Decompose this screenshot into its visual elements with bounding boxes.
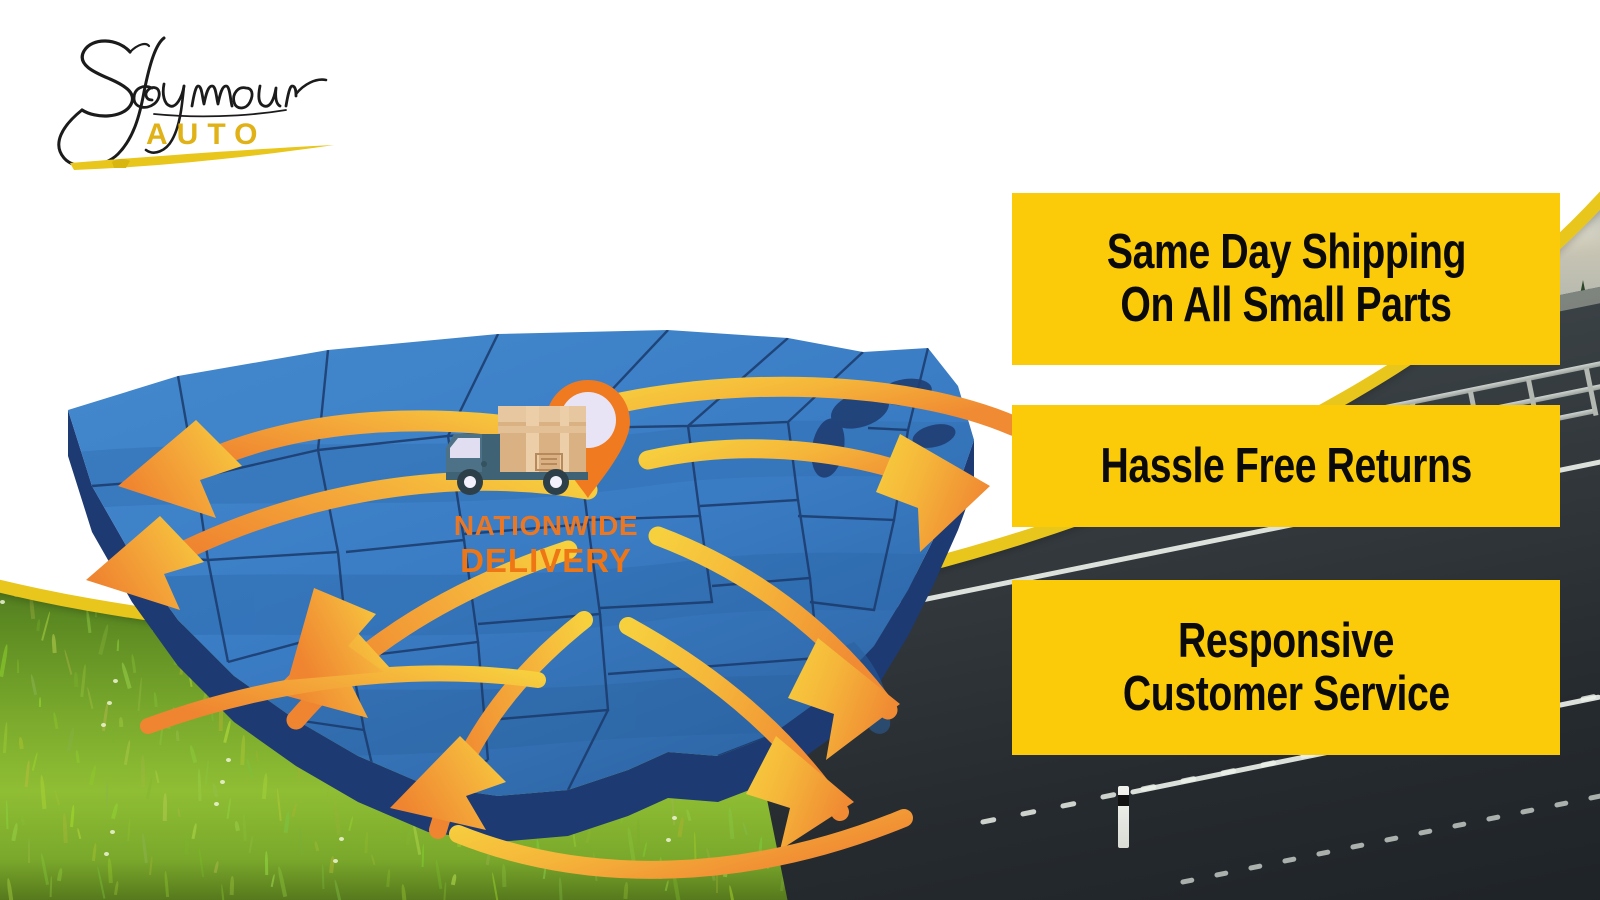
nationwide-label: NATIONWIDE [436,512,656,540]
grass-blade [230,876,235,895]
roadside-marker-post [1118,786,1129,848]
feature-line: Hassle Free Returns [1100,440,1472,493]
feature-line: On All Small Parts [1120,279,1451,332]
delivery-truck-icon [446,406,588,495]
seymour-auto-logo[interactable]: AUTO [34,22,344,172]
delivery-label: DELIVERY [436,544,656,577]
nationwide-delivery-text: NATIONWIDE DELIVERY [436,512,656,577]
feature-box-same-day-shipping[interactable]: Same Day Shipping On All Small Parts [1012,193,1560,365]
feature-line: Same Day Shipping [1106,226,1465,279]
feature-box-responsive-customer-service[interactable]: Responsive Customer Service [1012,580,1560,755]
wildflower [0,600,5,604]
feature-line: Responsive [1178,615,1394,668]
feature-box-hassle-free-returns[interactable]: Hassle Free Returns [1012,405,1560,527]
nationwide-delivery-badge: NATIONWIDE DELIVERY [436,372,656,582]
logo-auto-text: AUTO [146,118,266,151]
promo-banner: AUTO [0,0,1600,900]
feature-line: Customer Service [1123,668,1450,721]
